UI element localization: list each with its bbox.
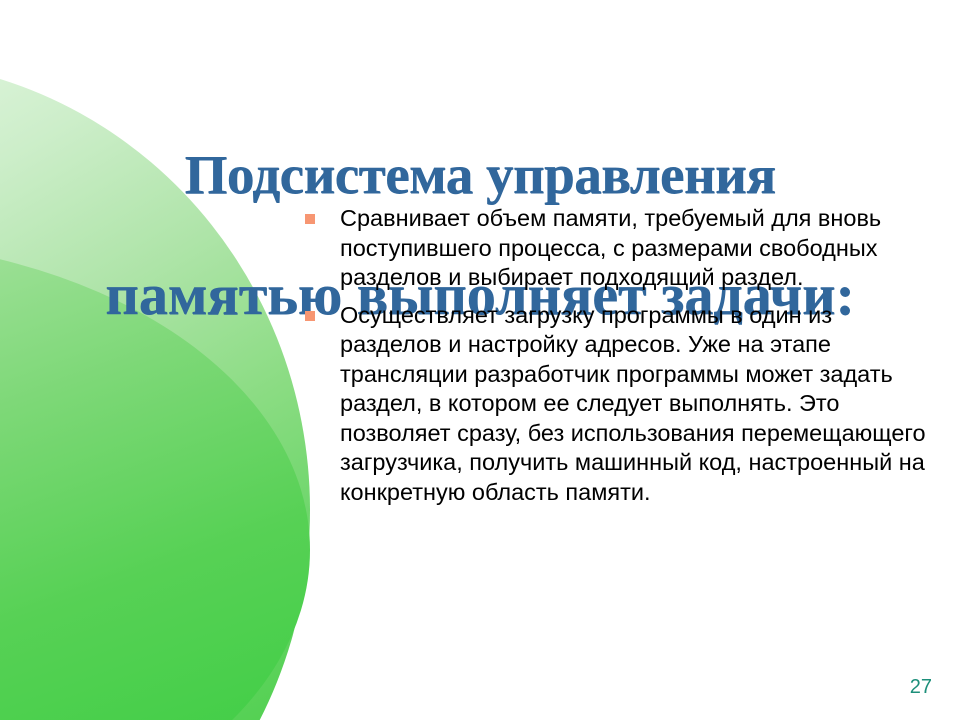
- page-title-line-1: Подсистема управления: [28, 145, 932, 205]
- square-bullet-icon: [305, 311, 315, 321]
- list-item: Сравнивает объем памяти, требуемый для в…: [300, 204, 930, 293]
- list-item: Осуществляет загрузку программы в один и…: [300, 301, 930, 508]
- page-number: 27: [910, 676, 932, 698]
- slide-canvas: Подсистема управления памятью выполняет …: [0, 0, 960, 720]
- square-bullet-icon: [305, 214, 315, 224]
- list-item-text: Осуществляет загрузку программы в один и…: [340, 301, 930, 508]
- list-item-text: Сравнивает объем памяти, требуемый для в…: [340, 204, 930, 293]
- bullet-list: Сравнивает объем памяти, требуемый для в…: [300, 204, 930, 515]
